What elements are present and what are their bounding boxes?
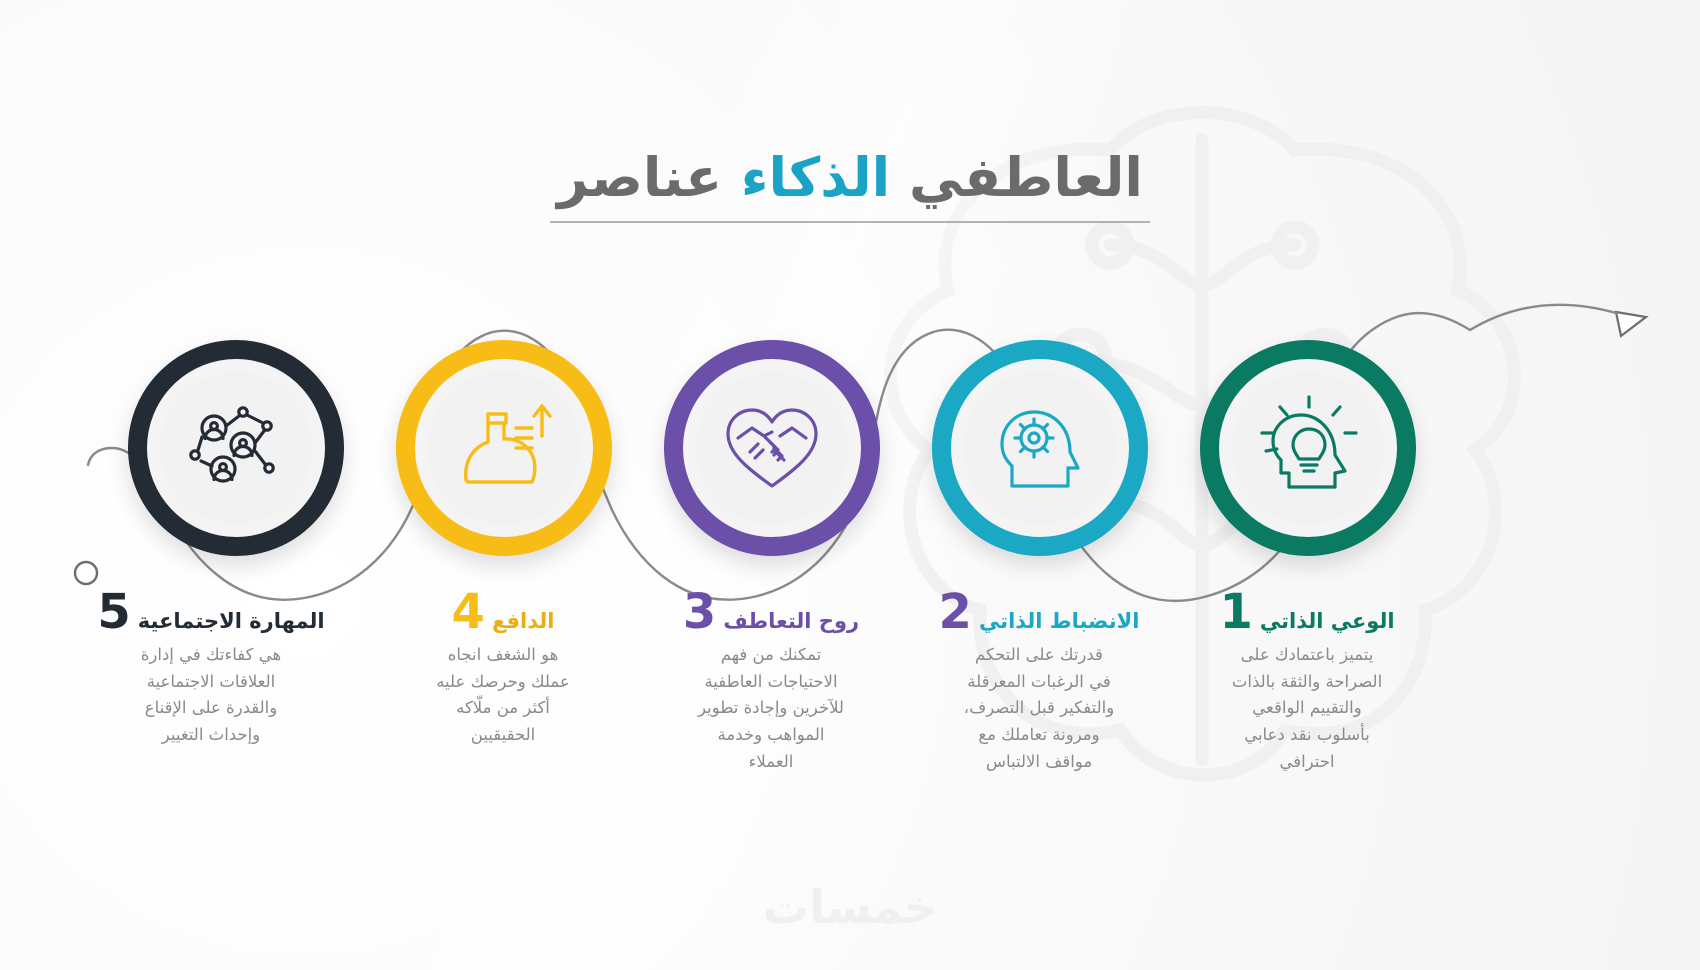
node-icon-wrap — [696, 372, 848, 524]
handshake-heart-icon — [714, 390, 830, 506]
caption-title: الانضباط الذاتي — [979, 610, 1140, 633]
page-title: العاطفي الذكاء عناصر — [0, 148, 1700, 223]
caption-empathy: روح التعاطف 3 تمكنك من فهم الاحتياجات ال… — [646, 588, 896, 776]
title-highlight: الذكاء — [741, 146, 890, 209]
caption-line: هو الشغف انجاه — [378, 642, 628, 669]
caption-title: المهارة الاجتماعية — [138, 610, 325, 633]
caption-line: الصراحة والثقة بالذات — [1182, 669, 1432, 696]
head-gear-icon — [982, 390, 1098, 506]
node-circle-self-awareness[interactable] — [1200, 340, 1416, 556]
caption-heading: الوعي الذاتي 1 — [1182, 588, 1432, 636]
caption-line: بأسلوب نقد دعابي — [1182, 722, 1432, 749]
caption-title: روح التعاطف — [723, 610, 859, 633]
caption-number: 2 — [939, 588, 972, 636]
caption-body: يتميز باعتمادك على الصراحة والثقة بالذات… — [1182, 642, 1432, 776]
infographic-canvas: العاطفي الذكاء عناصر — [0, 0, 1700, 970]
caption-line: والقدرة على الإقناع — [86, 695, 336, 722]
caption-line: العملاء — [646, 749, 896, 776]
caption-heading: المهارة الاجتماعية 5 — [86, 588, 336, 636]
caption-line: المواهب وخدمة — [646, 722, 896, 749]
caption-title: الدافع — [492, 610, 555, 633]
caption-heading: روح التعاطف 3 — [646, 588, 896, 636]
caption-self-regulation: الانضباط الذاتي 2 قدرتك على التحكم في ال… — [914, 588, 1164, 776]
caption-line: وإحداث التغيير — [86, 722, 336, 749]
caption-body: تمكنك من فهم الاحتياجات العاطفية للآخرين… — [646, 642, 896, 776]
caption-line: والتفكير قبل التصرف، — [914, 695, 1164, 722]
caption-social-skill: المهارة الاجتماعية 5 هي كفاءتك في إدارة … — [86, 588, 336, 749]
caption-line: يتميز باعتمادك على — [1182, 642, 1432, 669]
caption-line: في الرغبات المعرقلة — [914, 669, 1164, 696]
node-icon-wrap — [964, 372, 1116, 524]
caption-motivation: الدافع 4 هو الشغف انجاه عملك وحرصك عليه … — [378, 588, 628, 749]
caption-self-awareness: الوعي الذاتي 1 يتميز باعتمادك على الصراح… — [1182, 588, 1432, 776]
caption-body: هي كفاءتك في إدارة العلاقات الاجتماعية و… — [86, 642, 336, 749]
caption-number: 5 — [97, 588, 130, 636]
caption-title: الوعي الذاتي — [1260, 610, 1395, 633]
caption-line: قدرتك على التحكم — [914, 642, 1164, 669]
node-icon-wrap — [1232, 372, 1384, 524]
title-underline — [550, 221, 1150, 223]
caption-line: احترافي — [1182, 749, 1432, 776]
caption-number: 1 — [1219, 588, 1252, 636]
caption-number: 4 — [452, 588, 485, 636]
caption-line: للآخرين وإجادة تطوير — [646, 695, 896, 722]
node-circle-self-regulation[interactable] — [932, 340, 1148, 556]
caption-number: 3 — [683, 588, 716, 636]
caption-line: ومرونة تعاملك مع — [914, 722, 1164, 749]
caption-line: هي كفاءتك في إدارة — [86, 642, 336, 669]
caption-line: مواقف الالتباس — [914, 749, 1164, 776]
caption-line: العلاقات الاجتماعية — [86, 669, 336, 696]
caption-line: والتقييم الواقعي — [1182, 695, 1432, 722]
node-icon-wrap — [428, 372, 580, 524]
head-lightbulb-idea-icon — [1249, 389, 1367, 507]
caption-line: الحقيقيين — [378, 722, 628, 749]
node-circle-motivation[interactable] — [396, 340, 612, 556]
node-circle-empathy[interactable] — [664, 340, 880, 556]
caption-heading: الدافع 4 — [378, 588, 628, 636]
caption-body: قدرتك على التحكم في الرغبات المعرقلة وال… — [914, 642, 1164, 776]
node-icon-wrap — [160, 372, 312, 524]
title-suffix: العاطفي — [909, 146, 1143, 209]
caption-line: عملك وحرصك عليه — [378, 669, 628, 696]
node-circle-social-skill[interactable] — [128, 340, 344, 556]
title-prefix: عناصر — [557, 146, 722, 209]
caption-line: الاحتياجات العاطفية — [646, 669, 896, 696]
caption-line: أكثر من ملّاكه — [378, 695, 628, 722]
caption-line: تمكنك من فهم — [646, 642, 896, 669]
network-people-icon — [181, 393, 291, 503]
flexed-arm-growth-icon — [448, 392, 560, 504]
caption-body: هو الشغف انجاه عملك وحرصك عليه أكثر من م… — [378, 642, 628, 749]
caption-heading: الانضباط الذاتي 2 — [914, 588, 1164, 636]
